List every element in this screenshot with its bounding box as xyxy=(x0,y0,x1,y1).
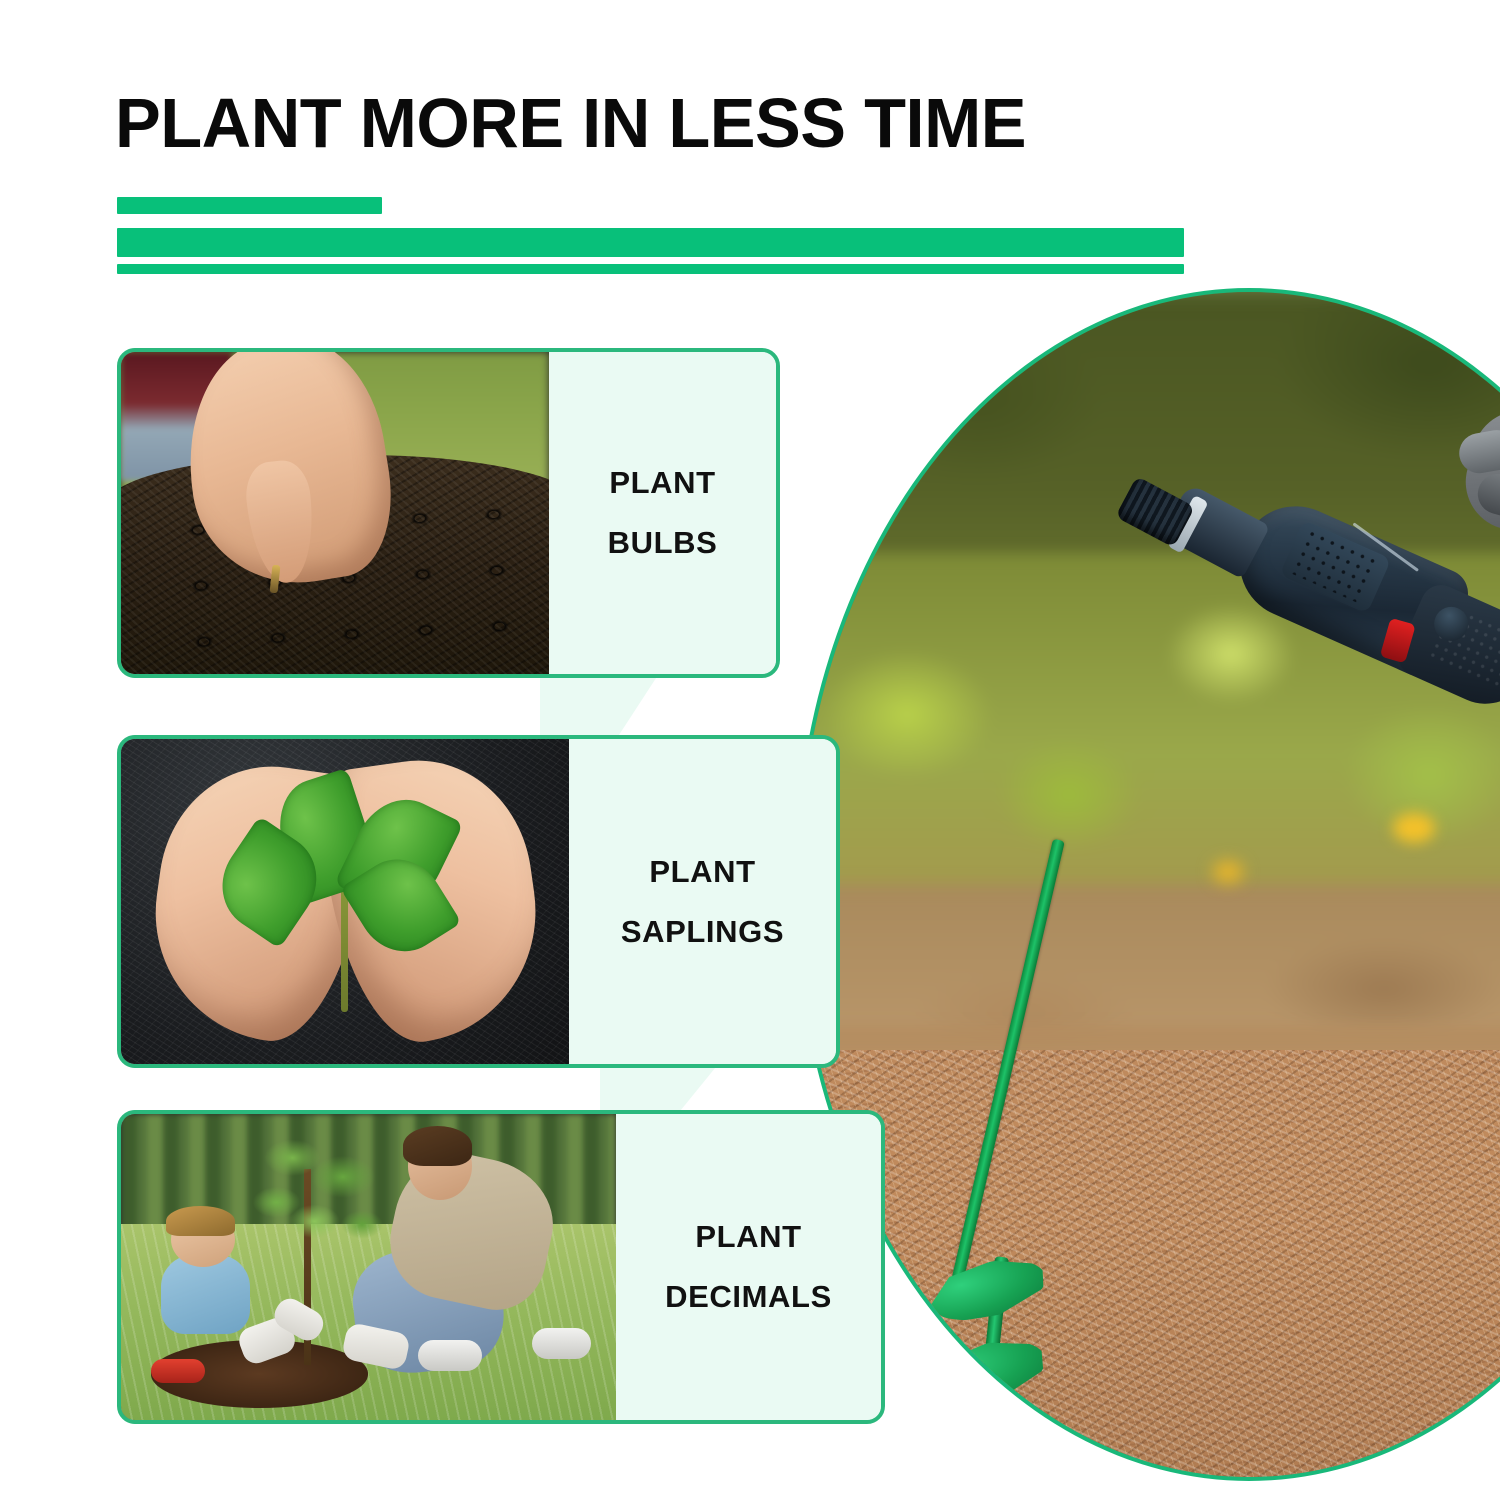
feature-label-line2: SAPLINGS xyxy=(621,915,784,949)
feature-label-line1: PLANT xyxy=(695,1220,801,1254)
blurred-flower-icon xyxy=(1213,861,1243,883)
accent-rule-long xyxy=(117,228,1184,257)
feature-photo-plant-bulbs xyxy=(121,352,549,674)
feature-photo-plant-saplings xyxy=(121,739,569,1064)
photo-man-shoe xyxy=(532,1328,591,1359)
feature-label-line2: BULBS xyxy=(608,526,718,560)
hero-product-photo xyxy=(795,288,1500,1481)
page-title: PLANT MORE IN LESS TIME xyxy=(115,86,1026,160)
feature-label-plant-saplings: PLANT SAPLINGS xyxy=(569,739,836,1064)
pine-mulch-ground xyxy=(799,1050,1500,1477)
photo-boy-hair xyxy=(166,1206,235,1237)
photo-boy-shoe xyxy=(151,1359,205,1383)
feature-card-plant-decimals[interactable]: PLANT DECIMALS xyxy=(117,1110,885,1424)
glove-thumb xyxy=(1456,427,1500,476)
feature-card-plant-bulbs[interactable]: PLANT BULBS xyxy=(117,348,780,678)
feature-label-line2: DECIMALS xyxy=(665,1280,832,1314)
feature-label-plant-bulbs: PLANT BULBS xyxy=(549,352,776,674)
hero-photo-scene xyxy=(799,292,1500,1477)
garden-auger-bit xyxy=(919,1257,1109,1481)
feature-label-line1: PLANT xyxy=(609,466,715,500)
photo-man-hair xyxy=(403,1126,472,1166)
feature-label-plant-decimals: PLANT DECIMALS xyxy=(616,1114,881,1420)
accent-rule-thin xyxy=(117,264,1184,274)
promo-banner: PLANT MORE IN LESS TIME xyxy=(0,0,1500,1500)
auger-flight xyxy=(922,1249,1051,1330)
feature-photo-plant-decimals xyxy=(121,1114,616,1420)
accent-rule-short xyxy=(117,197,382,214)
photo-man-shoe xyxy=(418,1340,482,1371)
feature-card-plant-saplings[interactable]: PLANT SAPLINGS xyxy=(117,735,840,1068)
feature-label-line1: PLANT xyxy=(649,855,755,889)
card-connector-tab xyxy=(540,672,660,742)
